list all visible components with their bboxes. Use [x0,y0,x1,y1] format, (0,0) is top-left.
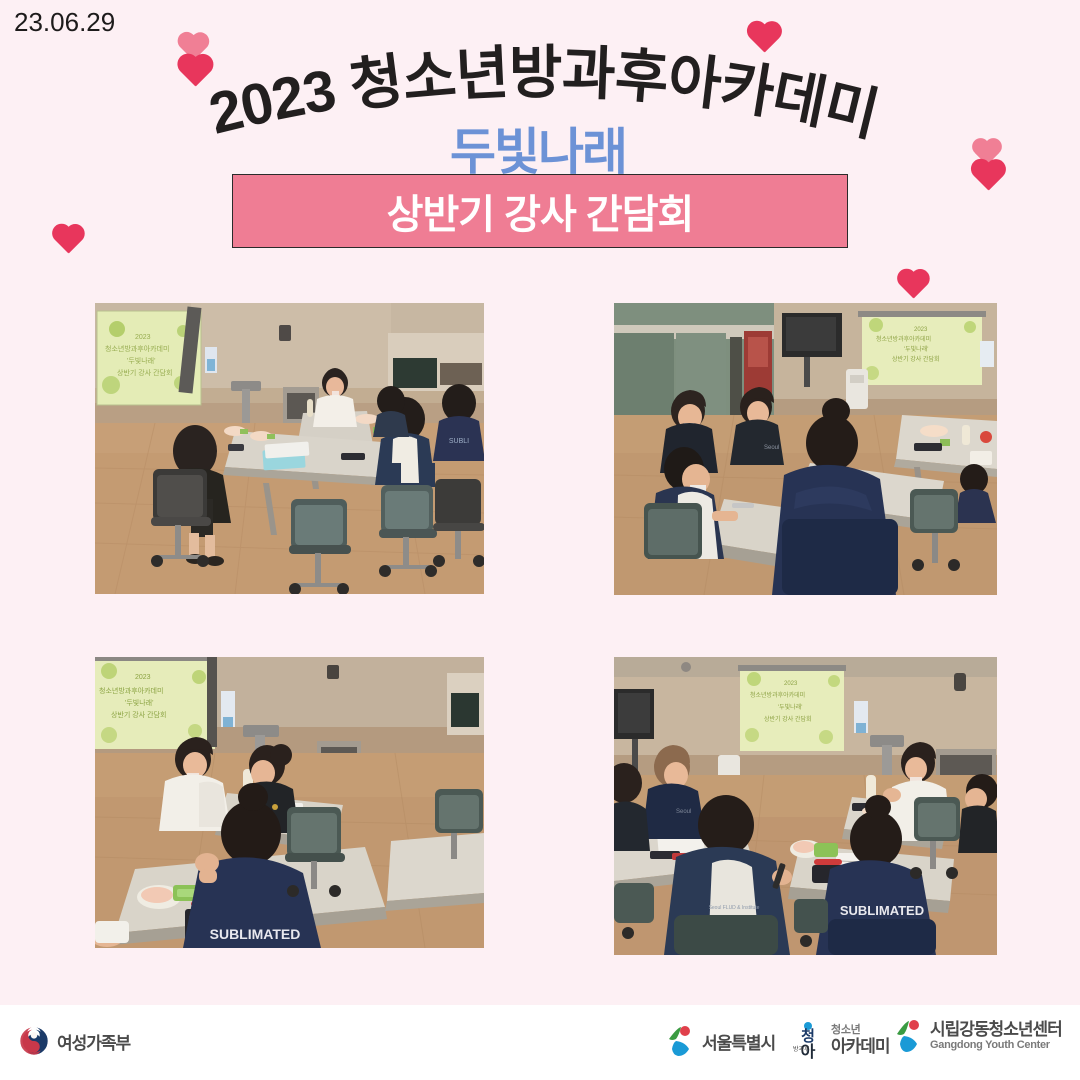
photo-thumbnail[interactable]: 2023 청소년방과후아카데미 '두빛나래' 상반기 강사 간담회 [614,657,997,955]
photo-2-illustration: 2023 청소년방과후아카데미 '두빛나래' 상반기 강사 간담회 [614,303,997,595]
svg-text:Seoul: Seoul [764,445,779,451]
youth-academy-icon: 청 아 방과후 [790,1021,824,1059]
svg-text:2023: 2023 [135,334,151,341]
logo-ministry-gender-equality-family: 여성가족부 [18,1025,130,1057]
svg-text:SUBLI: SUBLI [449,438,469,445]
logo-seoul-metropolitan-government: 서울특별시 [665,1025,775,1057]
svg-text:상반기 강사 간담회: 상반기 강사 간담회 [117,368,172,377]
photo-3-illustration: 2023 청소년방과후아카데미 '두빛나래' 상반기 강사 간담회 [95,657,484,948]
poster-canvas: 23.06.29 2023 청소년방과후아카데미 두빛나래 상반기 강사 간담회 [0,0,1080,1005]
photo-4-illustration: 2023 청소년방과후아카데미 '두빛나래' 상반기 강사 간담회 [614,657,997,955]
logo-label: 서울특별시 [702,1029,775,1054]
svg-text:'두빛나래': '두빛나래' [904,345,928,353]
svg-text:청소년방과후아카데미: 청소년방과후아카데미 [99,686,163,695]
footer-bar: 여성가족부 서울특별시 청 아 방과후 청소년 아카데미 시립강동청소년센터 [0,1005,1080,1080]
svg-text:SUBLIMATED: SUBLIMATED [840,903,924,918]
heart-icon [50,225,86,257]
taegeuk-swirl-icon [18,1025,50,1057]
svg-text:청소년방과후아카데미: 청소년방과후아카데미 [750,691,805,699]
svg-text:상반기 강사 간담회: 상반기 강사 간담회 [111,710,166,719]
svg-text:Seoul: Seoul [676,809,691,815]
heart-icon [895,270,931,302]
photo-1-illustration: 2023 청소년방과후아카데미 '두빛나래' 상반기 강사 간담회 [95,303,484,594]
svg-text:2023: 2023 [914,327,928,333]
seoul-brand-icon [665,1025,695,1057]
logo-gangdong-youth-center: 시립강동청소년센터 Gangdong Youth Center [893,1019,1062,1053]
logo-label-english: Gangdong Youth Center [930,1039,1062,1052]
svg-text:청: 청 [801,1028,815,1045]
banner-box: 상반기 강사 간담회 [232,174,848,248]
svg-text:Seoul FLUD & Institute: Seoul FLUD & Institute [709,905,760,911]
svg-text:2023: 2023 [784,681,798,687]
seoul-brand-icon [893,1019,923,1053]
logo-youth-after-school-academy: 청 아 방과후 청소년 아카데미 [790,1021,890,1059]
svg-text:청소년방과후아카데미: 청소년방과후아카데미 [876,335,931,343]
logo-label-academy: 아카데미 [831,1037,890,1057]
logo-label-korean: 시립강동청소년센터 [930,1020,1062,1040]
svg-text:상반기 강사 간담회: 상반기 강사 간담회 [764,715,812,723]
photo-thumbnail[interactable]: 2023 청소년방과후아카데미 '두빛나래' 상반기 강사 간담회 [95,657,484,948]
photo-thumbnail[interactable]: 2023 청소년방과후아카데미 '두빛나래' 상반기 강사 간담회 [614,303,997,595]
svg-text:상반기 강사 간담회: 상반기 강사 간담회 [892,355,940,363]
banner-label: 상반기 강사 간담회 [387,182,694,240]
svg-text:'두빛나래': '두빛나래' [127,356,155,365]
svg-text:방과후: 방과후 [793,1045,810,1053]
svg-text:SUBLIMATED: SUBLIMATED [210,926,301,942]
svg-text:'두빛나래': '두빛나래' [125,698,153,707]
logo-label: 여성가족부 [57,1029,130,1054]
svg-text:청소년방과후아카데미: 청소년방과후아카데미 [105,344,169,353]
svg-text:'두빛나래': '두빛나래' [778,703,802,711]
photo-thumbnail[interactable]: 2023 청소년방과후아카데미 '두빛나래' 상반기 강사 간담회 [95,303,484,594]
logo-label-youth: 청소년 [831,1024,890,1037]
svg-text:2023: 2023 [135,674,151,681]
